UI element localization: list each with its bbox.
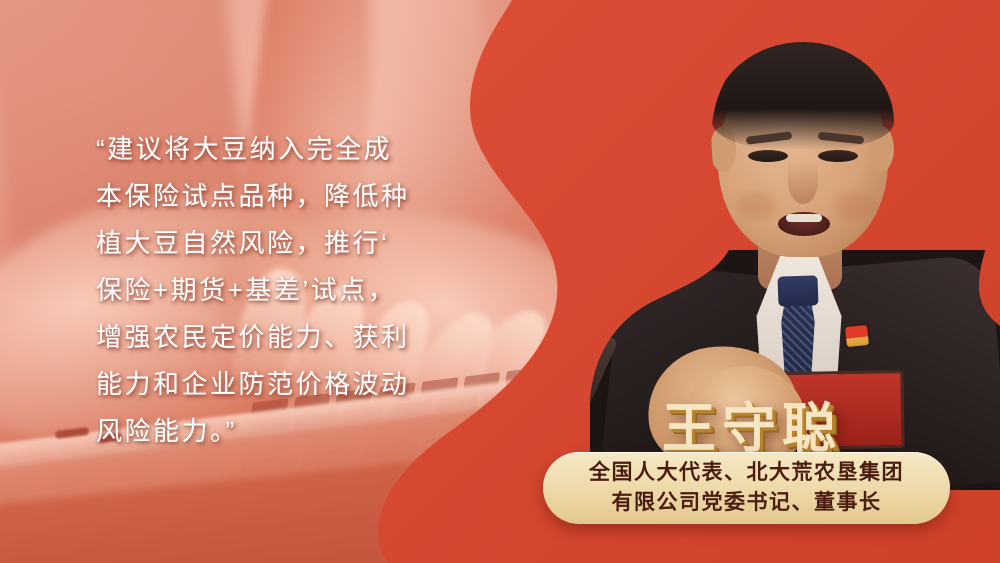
lapel-pin-icon [845, 325, 869, 347]
quote-line: 植大豆自然风险，推行‘ [96, 220, 456, 267]
quote-line: 保险+期货+基差’试点， [96, 267, 456, 314]
quote-line: 能力和企业防范价格波动 [96, 361, 456, 408]
quote-line: 风险能力。” [96, 408, 456, 455]
cheek-right [834, 192, 874, 220]
speaker-title-banner: 全国人大代表、北大荒农垦集团 有限公司党委书记、董事长 [543, 452, 950, 524]
quote-line: “建议将大豆纳入完全成 [96, 126, 456, 173]
quote-line: 本保险试点品种，降低种 [96, 173, 456, 220]
necktie-knot [777, 275, 818, 306]
nose [788, 160, 818, 204]
eye-left [748, 150, 788, 162]
cheek-left [736, 192, 776, 220]
quote-card: “建议将大豆纳入完全成 本保险试点品种，降低种 植大豆自然风险，推行‘ 保险+期… [0, 0, 1000, 563]
quote-line: 增强农民定价能力、获利 [96, 314, 456, 361]
eye-right [818, 150, 858, 162]
quote-text-block: “建议将大豆纳入完全成 本保险试点品种，降低种 植大豆自然风险，推行‘ 保险+期… [96, 126, 456, 455]
speaker-title-line: 全国人大代表、北大荒农垦集团 [589, 458, 904, 488]
speaker-title-line: 有限公司党委书记、董事长 [612, 488, 882, 518]
teeth [786, 214, 822, 222]
